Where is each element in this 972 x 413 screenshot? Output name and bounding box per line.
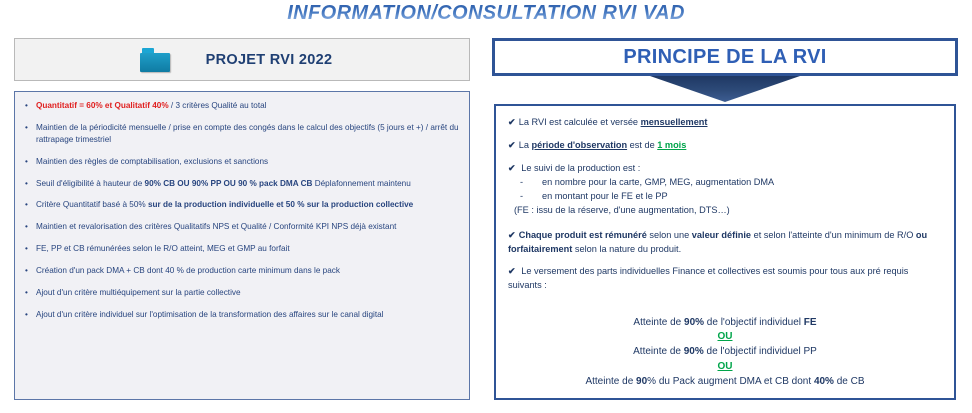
left-bullet-fe-pp-cb-remunerees: •FE, PP et CB rémunérées selon le R/O at… (23, 243, 459, 255)
text-fragment: selon une (647, 230, 692, 240)
check-icon: ✔ (508, 266, 516, 276)
bullet-dot-icon: • (25, 199, 36, 211)
text-fragment: 40% (814, 376, 834, 387)
bullet-dot-icon: • (25, 100, 36, 112)
bullet-dot-icon: • (25, 309, 36, 321)
right-panel: PRINCIPE DE LA RVI ✔La RVI est calculée … (492, 38, 958, 400)
dash-icon: - (520, 176, 542, 190)
bullet-text: Ajout d'un critère individuel sur l'opti… (36, 309, 459, 321)
or-separator: OU (508, 330, 942, 344)
bullet-text: Création d'un pack DMA + CB dont 40 % de… (36, 265, 459, 277)
text-fragment: de CB (834, 376, 865, 387)
text-fragment: et selon l'atteinte d'un minimum de R/O (751, 230, 916, 240)
bullet-text: Critère Quantitatif basé à 50% sur de la… (36, 199, 459, 211)
text-fragment: valeur définie (692, 230, 751, 240)
prerequisite-prereq-pack: Atteinte de 90% du Pack augment DMA et C… (508, 374, 942, 390)
left-bullet-critere-quantitatif-50: •Critère Quantitatif basé à 50% sur de l… (23, 199, 459, 211)
left-bullet-creation-pack-dma-cb: •Création d'un pack DMA + CB dont 40 % d… (23, 265, 459, 277)
text-fragment: Chaque produit est rémunéré (519, 230, 647, 240)
right-item-periode-observation: ✔La période d'observation est de 1 mois (508, 139, 942, 153)
left-header-inner: PROJET RVI 2022 (140, 48, 333, 72)
text-fragment: 90% (684, 317, 704, 328)
prerequisites-block: Atteinte de 90% de l'objectif individuel… (508, 315, 942, 390)
bullet-dot-icon: • (25, 265, 36, 277)
text-fragment: Seuil d'éligibilité à hauteur de (36, 179, 145, 188)
text-fragment: période d'observation (531, 140, 627, 150)
text-fragment: Maintien et revalorisation des critères … (36, 222, 396, 231)
text-fragment: Déplafonnement maintenu (312, 179, 410, 188)
bullet-dot-icon: • (25, 122, 36, 134)
text-fragment: 90% CB OU 90% PP OU 90 % pack DMA CB (145, 179, 313, 188)
folder-icon (140, 48, 170, 72)
text-fragment: La RVI est calculée et versée (519, 117, 641, 127)
check-icon: ✔ (508, 117, 516, 127)
left-bullet-critere-individuel-digital: •Ajout d'un critère individuel sur l'opt… (23, 309, 459, 321)
down-arrow-icon (650, 76, 800, 102)
item-text: La période d'observation est de 1 mois (519, 140, 687, 150)
prerequisite-prereq-pp: Atteinte de 90% de l'objectif individuel… (508, 344, 942, 360)
left-bullet-regles-comptabilisation: •Maintien des règles de comptabilisation… (23, 156, 459, 168)
or-separator: OU (508, 360, 942, 374)
sub-item-text: en montant pour le FE et le PP (542, 190, 668, 204)
bullet-text: FE, PP et CB rémunérées selon le R/O att… (36, 243, 459, 255)
bullet-text: Seuil d'éligibilité à hauteur de 90% CB … (36, 178, 459, 190)
right-item-chaque-produit-remunere: ✔Chaque produit est rémunéré selon une v… (508, 229, 942, 257)
text-fragment: de l'objectif individuel PP (704, 346, 817, 357)
sub-item-text: en nombre pour la carte, GMP, MEG, augme… (542, 176, 774, 190)
left-bullet-seuil-eligibilite: •Seuil d'éligibilité à hauteur de 90% CB… (23, 178, 459, 190)
text-fragment: 1 mois (657, 140, 686, 150)
sub-item-1: -en montant pour le FE et le PP (508, 190, 942, 204)
text-fragment: Ajout d'un critère multiéquipement sur l… (36, 288, 241, 297)
text-fragment: sur de la production individuelle et 50 … (148, 200, 413, 209)
text-fragment: Atteinte de (633, 317, 684, 328)
bullet-dot-icon: • (25, 178, 36, 190)
left-panel-body: •Quantitatif = 60% et Qualitatif 40% / 3… (14, 91, 470, 400)
bullet-text: Ajout d'un critère multiéquipement sur l… (36, 287, 459, 299)
page-title: INFORMATION/CONSULTATION RVI VAD (0, 2, 972, 25)
text-fragment: FE (804, 317, 817, 328)
text-fragment: Création d'un pack DMA + CB dont 40 % de… (36, 266, 340, 275)
text-fragment: 90% (684, 346, 704, 357)
left-panel: PROJET RVI 2022 •Quantitatif = 60% et Qu… (14, 38, 470, 400)
right-panel-header: PRINCIPE DE LA RVI (492, 38, 958, 76)
item-text: Chaque produit est rémunéré selon une va… (508, 230, 927, 254)
bullet-text: Maintien et revalorisation des critères … (36, 221, 459, 233)
right-item-versement-parts: ✔ Le versement des parts individuelles F… (508, 265, 942, 293)
left-bullet-quantitatif-qualitatif: •Quantitatif = 60% et Qualitatif 40% / 3… (23, 100, 459, 112)
sub-item-0: -en nombre pour la carte, GMP, MEG, augm… (508, 176, 942, 190)
text-fragment: % du Pack augment DMA et CB dont (647, 376, 814, 387)
right-item-rvi-mensuellement: ✔La RVI est calculée et versée mensuelle… (508, 116, 942, 130)
text-fragment: de l'objectif individuel (704, 317, 804, 328)
fe-note: (FE : issu de la réserve, d'une augmenta… (508, 204, 942, 218)
text-fragment: 90 (636, 376, 647, 387)
item-text: La RVI est calculée et versée mensuellem… (519, 117, 708, 127)
text-fragment: Ajout d'un critère individuel sur l'opti… (36, 310, 384, 319)
right-panel-body: ✔La RVI est calculée et versée mensuelle… (494, 104, 956, 400)
item-text: Le versement des parts individuelles Fin… (508, 266, 908, 290)
bullet-dot-icon: • (25, 156, 36, 168)
text-fragment: Atteinte de (633, 346, 684, 357)
text-fragment: mensuellement (641, 117, 708, 127)
right-panel-title: PRINCIPE DE LA RVI (623, 46, 826, 69)
left-panel-title: PROJET RVI 2022 (206, 52, 333, 68)
left-bullet-criteres-qualitatifs-nps: •Maintien et revalorisation des critères… (23, 221, 459, 233)
left-bullet-periodicite-mensuelle: •Maintien de la périodicité mensuelle / … (23, 122, 459, 146)
text-fragment: Maintien des règles de comptabilisation,… (36, 157, 268, 166)
text-fragment: La (519, 140, 532, 150)
bullet-dot-icon: • (25, 243, 36, 255)
bullet-text: Maintien de la périodicité mensuelle / p… (36, 122, 459, 146)
folder-icon-body (140, 53, 170, 72)
text-fragment: Le versement des parts individuelles Fin… (508, 266, 908, 290)
left-bullet-critere-multiequipement: •Ajout d'un critère multiéquipement sur … (23, 287, 459, 299)
prerequisite-prereq-fe: Atteinte de 90% de l'objectif individuel… (508, 315, 942, 331)
dash-icon: - (520, 190, 542, 204)
item-text: Le suivi de la production est : (519, 163, 641, 173)
text-fragment: selon la nature du produit. (572, 244, 681, 254)
check-icon: ✔ (508, 230, 516, 240)
text-fragment: Critère Quantitatif basé à 50% (36, 200, 148, 209)
text-fragment: Maintien de la périodicité mensuelle / p… (36, 123, 459, 144)
text-fragment: est de (627, 140, 657, 150)
text-fragment: Quantitatif = 60% et Qualitatif 40% (36, 101, 169, 110)
bullet-dot-icon: • (25, 221, 36, 233)
bullet-text: Quantitatif = 60% et Qualitatif 40% / 3 … (36, 100, 459, 112)
text-fragment: FE, PP et CB rémunérées selon le R/O att… (36, 244, 290, 253)
right-item-suivi-production: ✔ Le suivi de la production est : (508, 162, 942, 176)
bullet-text: Maintien des règles de comptabilisation,… (36, 156, 459, 168)
left-panel-header: PROJET RVI 2022 (14, 38, 470, 81)
check-icon: ✔ (508, 140, 516, 150)
text-fragment: Atteinte de (585, 376, 636, 387)
check-icon: ✔ (508, 163, 516, 173)
bullet-dot-icon: • (25, 287, 36, 299)
text-fragment: Le suivi de la production est : (519, 163, 641, 173)
text-fragment: / 3 critères Qualité au total (169, 101, 267, 110)
